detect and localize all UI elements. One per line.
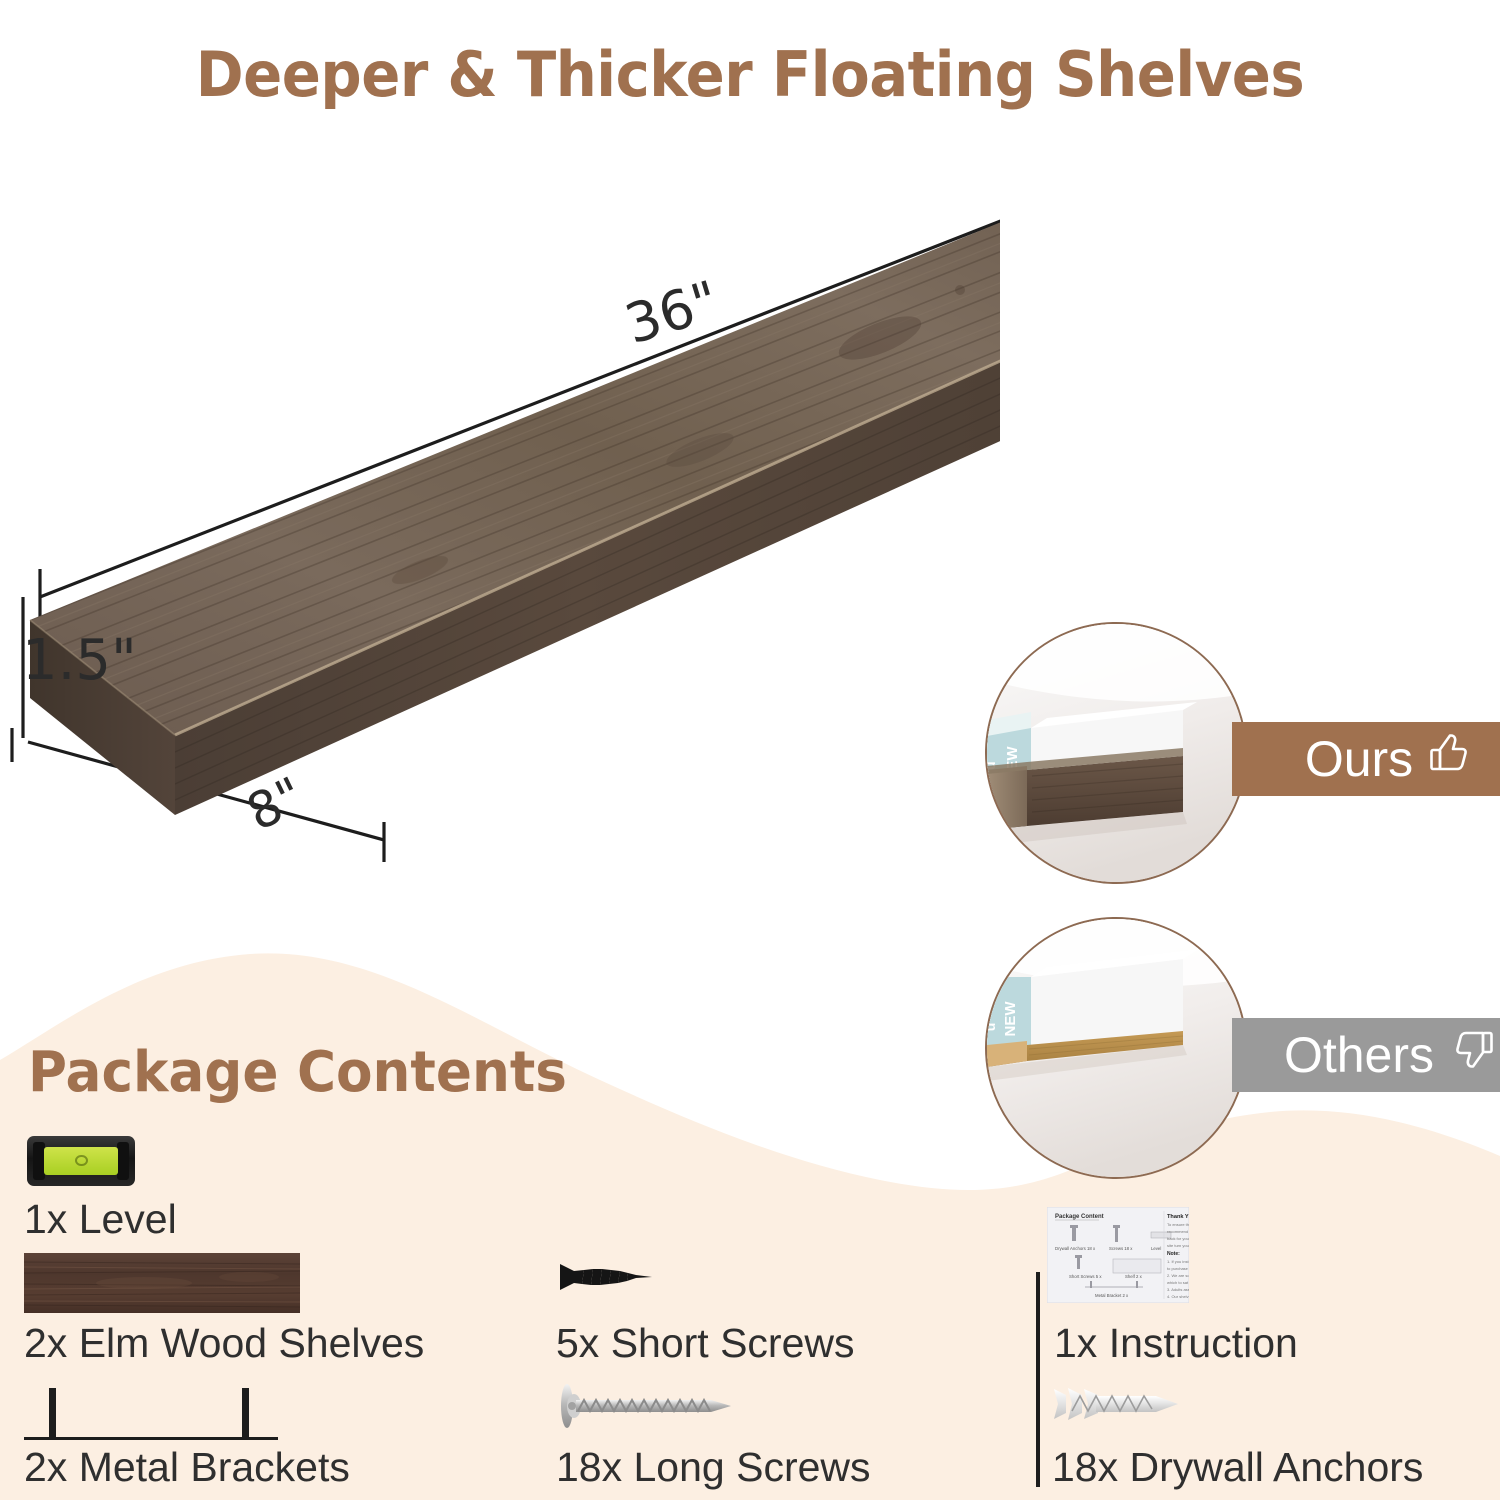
svg-text:u: u xyxy=(987,1023,998,1032)
column-divider xyxy=(1036,1272,1040,1487)
thumbs-up-icon xyxy=(1427,729,1475,789)
others-badge: Others xyxy=(1232,1018,1500,1092)
svg-text:Metal Bracket 2 x: Metal Bracket 2 x xyxy=(1095,1293,1129,1298)
ours-label: Ours xyxy=(1305,730,1413,788)
black-screw-icon xyxy=(558,1258,658,1296)
thumbs-down-icon xyxy=(1448,1025,1496,1085)
svg-text:back for you: back for you xyxy=(1167,1236,1189,1241)
svg-text:1. If you inst: 1. If you inst xyxy=(1167,1259,1189,1264)
package-contents-heading: Package Contents xyxy=(28,1040,567,1105)
svg-text:Package Content: Package Content xyxy=(1055,1214,1104,1220)
dimension-label-thickness: 1.5" xyxy=(22,628,137,693)
svg-text:Level: Level xyxy=(1151,1246,1161,1251)
svg-text:Screws 18 x: Screws 18 x xyxy=(1109,1246,1133,1251)
svg-text:2. We are so: 2. We are so xyxy=(1167,1273,1189,1278)
silver-screw-icon xyxy=(556,1378,746,1434)
package-item-long-screws-label: 18x Long Screws xyxy=(556,1444,871,1491)
svg-text:Note:: Note: xyxy=(1167,1251,1180,1257)
others-photo-circle: NEW u xyxy=(985,917,1247,1179)
ours-badge: Ours xyxy=(1232,722,1500,796)
package-item-instruction-label: 1x Instruction xyxy=(1054,1320,1298,1367)
svg-text:site turn you: site turn you xyxy=(1167,1243,1189,1248)
svg-text:Drywall Anchors 18 x: Drywall Anchors 18 x xyxy=(1055,1246,1096,1251)
infographic-root: Deeper & Thicker Floating Shelves xyxy=(0,0,1500,1500)
instruction-sheet-icon: Package Content Drywall Anchors 18 x Scr… xyxy=(1047,1207,1189,1303)
shelf-diagram xyxy=(0,150,1000,910)
svg-text:To ensure th: To ensure th xyxy=(1167,1222,1189,1227)
svg-text:recommend: recommend xyxy=(1167,1229,1188,1234)
wood-plank-icon xyxy=(24,1253,300,1313)
svg-text:Thank Y: Thank Y xyxy=(1167,1214,1189,1220)
package-item-short-screws-label: 5x Short Screws xyxy=(556,1320,855,1367)
package-item-brackets-label: 2x Metal Brackets xyxy=(24,1444,350,1491)
svg-text:Shelf 2 x: Shelf 2 x xyxy=(1125,1274,1143,1279)
svg-text:which to sat: which to sat xyxy=(1167,1280,1189,1285)
svg-text:4. Our shelv: 4. Our shelv xyxy=(1167,1294,1189,1299)
package-item-anchors-label: 18x Drywall Anchors xyxy=(1052,1444,1423,1491)
svg-text:to purchase: to purchase xyxy=(1167,1266,1189,1271)
metal-bracket-icon xyxy=(24,1382,278,1440)
others-label: Others xyxy=(1284,1026,1434,1084)
svg-text:NEW: NEW xyxy=(1002,1001,1019,1037)
page-title: Deeper & Thicker Floating Shelves xyxy=(53,38,1448,111)
package-item-level-label: 1x Level xyxy=(24,1196,177,1243)
ours-photo-circle: NEW mu xyxy=(985,622,1247,884)
svg-text:3. Adults ass: 3. Adults ass xyxy=(1167,1287,1189,1292)
package-item-shelves-label: 2x Elm Wood Shelves xyxy=(24,1320,424,1367)
bubble-level-icon xyxy=(27,1136,135,1186)
drywall-anchor-icon xyxy=(1052,1383,1192,1425)
svg-text:Short Screws 5 x: Short Screws 5 x xyxy=(1069,1274,1102,1279)
